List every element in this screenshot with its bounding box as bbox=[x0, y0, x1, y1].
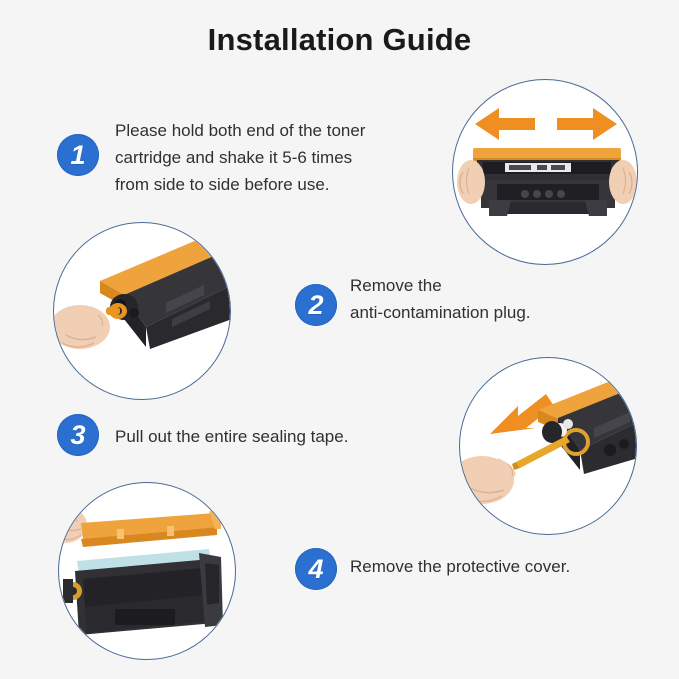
step-2-line-1: Remove the bbox=[350, 272, 630, 299]
step-2-line-2: anti-contamination plug. bbox=[350, 299, 630, 326]
arrow-right-icon bbox=[557, 108, 617, 140]
step-text-3: Pull out the entire sealing tape. bbox=[115, 423, 415, 450]
step-badge-2: 2 bbox=[295, 284, 337, 326]
sealing-tape-tab bbox=[512, 436, 570, 470]
step-text-4: Remove the protective cover. bbox=[350, 553, 650, 580]
arrow-left-icon bbox=[475, 108, 535, 140]
hand-pulling-plug bbox=[54, 305, 110, 349]
step-badge-4: 4 bbox=[295, 548, 337, 590]
step-4-line-1: Remove the protective cover. bbox=[350, 553, 650, 580]
anti-contamination-plug bbox=[106, 303, 127, 319]
right-hand bbox=[609, 160, 637, 204]
step-1-line-1: Please hold both end of the toner bbox=[115, 117, 415, 144]
pull-sealing-tape-photo bbox=[459, 357, 637, 535]
shake-arrows-group bbox=[453, 80, 637, 264]
shake-cartridge-photo bbox=[452, 79, 638, 265]
step-badge-3: 3 bbox=[57, 414, 99, 456]
installation-guide-page: Installation Guide 1 Please hold both en… bbox=[0, 0, 679, 679]
protective-cover-illustration bbox=[59, 483, 235, 659]
hand-pulling-tape bbox=[460, 456, 516, 504]
step-3-line-1: Pull out the entire sealing tape. bbox=[115, 423, 415, 450]
step-text-1: Please hold both end of the toner cartri… bbox=[115, 117, 415, 198]
plug-removal-illustration bbox=[54, 223, 230, 399]
protective-cover bbox=[81, 511, 221, 547]
remove-protective-cover-photo bbox=[58, 482, 236, 660]
page-title: Installation Guide bbox=[0, 22, 679, 58]
step-text-2: Remove the anti-contamination plug. bbox=[350, 272, 630, 326]
step-1-line-3: from side to side before use. bbox=[115, 171, 415, 198]
step-1-line-2: cartridge and shake it 5-6 times bbox=[115, 144, 415, 171]
sealing-tape-illustration bbox=[460, 358, 636, 534]
remove-plug-photo bbox=[53, 222, 231, 400]
left-hand bbox=[457, 160, 485, 204]
step-badge-1: 1 bbox=[57, 134, 99, 176]
